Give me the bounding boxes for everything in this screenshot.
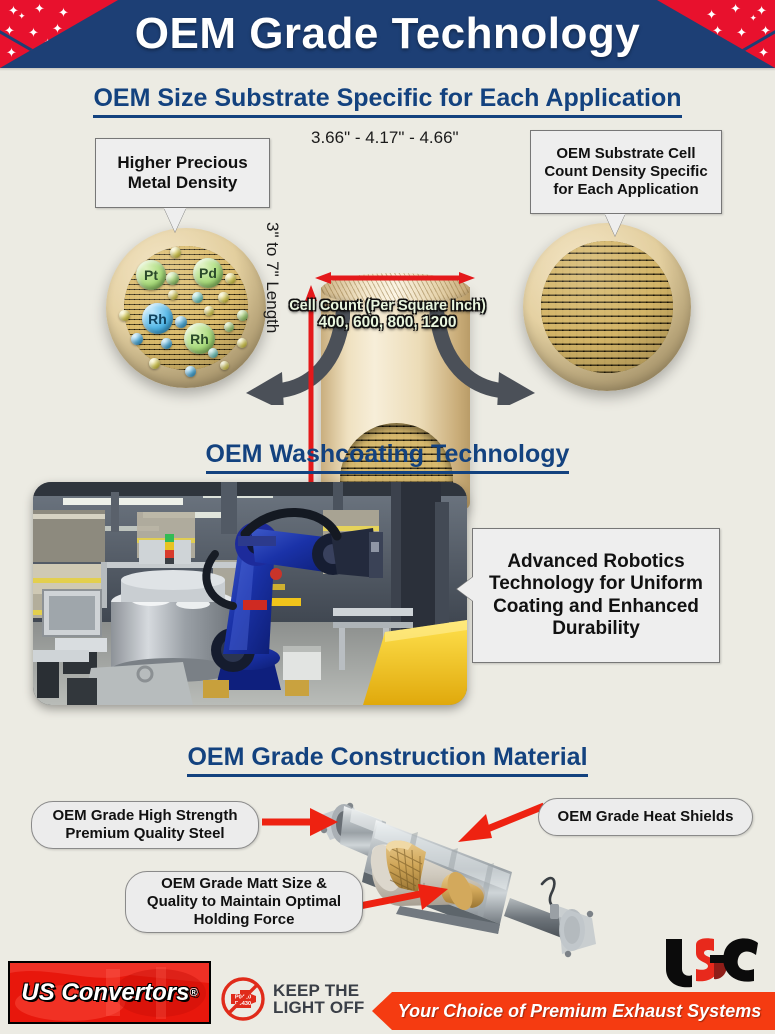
particle-pd: Pd — [193, 258, 223, 288]
arrow-matt-icon — [360, 884, 448, 914]
particle-small — [170, 247, 181, 258]
width-dimension-arrow-icon — [315, 272, 475, 284]
particle-small — [166, 272, 179, 285]
keep-light-off-badge: P0420 P0430 KEEP THE LIGHT OFF — [220, 974, 370, 1024]
callout-precious-metal-density: Higher Precious Metal Density — [95, 138, 270, 208]
heading-substrate: OEM Size Substrate Specific for Each App… — [0, 84, 775, 113]
page-header: ✦ ✦ ✦ ✦ ✦ ✦ ✦ ✦ ✦ ✦ OEM Grade Technology… — [0, 0, 775, 68]
cell-count-line1: Cell Count (Per Square Inch) — [0, 298, 775, 314]
callout-cell-count-density: OEM Substrate Cell Count Density Specifi… — [530, 130, 722, 214]
heading-washcoating: OEM Washcoating Technology — [0, 440, 775, 469]
particle-small — [208, 348, 218, 358]
callout-heat-shields-text: OEM Grade Heat Shields — [558, 808, 734, 826]
arrow-steel-icon — [262, 808, 338, 836]
particle-pt: Pt — [136, 260, 166, 290]
particle-small — [161, 338, 172, 349]
particle-small — [149, 358, 160, 369]
page-title: OEM Grade Technology — [0, 0, 775, 68]
keep-light-line2: LIGHT OFF — [273, 999, 365, 1017]
heading-substrate-text: OEM Size Substrate Specific for Each App… — [93, 84, 681, 118]
usc-logo-icon — [662, 935, 762, 989]
heading-washcoating-text: OEM Washcoating Technology — [206, 440, 570, 474]
robotics-photo-image — [33, 482, 467, 705]
callout-high-strength-steel: OEM Grade High Strength Premium Quality … — [31, 801, 259, 849]
callout-matt-size: OEM Grade Matt Size & Quality to Maintai… — [125, 871, 363, 933]
heading-construction-text: OEM Grade Construction Material — [187, 743, 587, 777]
callout-matt-text: OEM Grade Matt Size & Quality to Maintai… — [134, 875, 354, 929]
brand-logo-box[interactable]: US Convertors® — [8, 961, 211, 1024]
width-dimension-label: 3.66" - 4.17" - 4.66" — [311, 128, 459, 148]
callout-heat-shields: OEM Grade Heat Shields — [538, 798, 753, 836]
infographic-page: ✦ ✦ ✦ ✦ ✦ ✦ ✦ ✦ ✦ ✦ OEM Grade Technology… — [0, 0, 775, 1034]
robotics-photo — [33, 482, 467, 705]
callout-cell-count-text: OEM Substrate Cell Count Density Specifi… — [536, 145, 716, 198]
callout-precious-metal-text: Higher Precious Metal Density — [102, 153, 263, 193]
particle-small — [185, 366, 196, 377]
callout-steel-text: OEM Grade High Strength Premium Quality … — [40, 807, 250, 843]
cell-count-label: Cell Count (Per Square Inch) 400, 600, 8… — [0, 298, 775, 332]
keep-light-off-text: KEEP THE LIGHT OFF — [273, 982, 365, 1017]
tagline-text: Your Choice of Premium Exhaust Systems — [386, 1001, 761, 1022]
particle-small — [220, 361, 229, 370]
particle-small — [225, 273, 236, 284]
heading-construction: OEM Grade Construction Material — [0, 743, 775, 772]
cell-count-line2: 400, 600, 800, 1200 — [0, 314, 775, 331]
keep-light-line1: KEEP THE — [273, 982, 365, 1000]
usc-logo — [662, 935, 762, 989]
callout-advanced-robotics: Advanced Robotics Technology for Uniform… — [472, 528, 720, 663]
arrow-heat-shields-icon — [448, 800, 548, 844]
no-check-engine-light-icon: P0420 P0430 — [220, 976, 266, 1022]
callout-robotics-text: Advanced Robotics Technology for Uniform… — [483, 551, 709, 641]
particle-small — [131, 333, 143, 345]
header-divider — [0, 68, 775, 71]
tagline-banner: Your Choice of Premium Exhaust Systems — [372, 992, 775, 1030]
brand-logo-text: US Convertors® — [10, 963, 209, 1022]
